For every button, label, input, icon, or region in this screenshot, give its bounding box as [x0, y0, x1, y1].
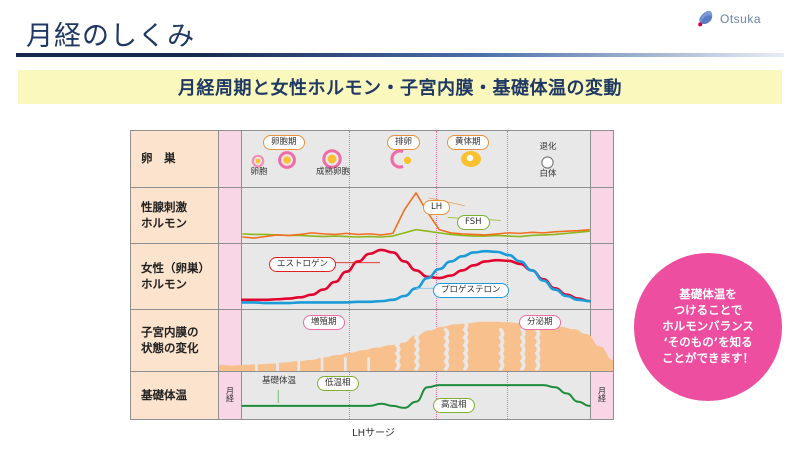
pill-low-temp-phase: 低温相: [317, 376, 359, 391]
guide-line-ovulation: [436, 131, 438, 187]
pill-ovulation: 排卵: [387, 135, 420, 150]
guide-line-luteal: [507, 131, 509, 187]
endometrium-plot: 増殖期 分泌期: [219, 310, 613, 371]
bubble-line: ことができます！: [662, 351, 754, 367]
corpus-luteum-icon: [459, 149, 483, 174]
bubble-line: ホルモンバランス: [662, 319, 754, 335]
label-corpus-albicans: 白体: [531, 170, 565, 180]
chart-row-female-hormone: 女性（卵巣）ホルモン エストロゲン プロゲステロン: [131, 244, 613, 310]
female-hormone-curves: [219, 244, 613, 309]
lh-surge-caption: LHサージ: [352, 424, 395, 439]
chart-row-gonadotropin: 性腺刺激ホルモン LH FSH: [131, 188, 613, 244]
chart-row-endometrium: 子宮内膜の状態の変化 増殖期 分泌期: [131, 310, 613, 372]
bbt-plot: 月経 月経 基礎体温 低温相 高温相: [219, 372, 613, 419]
menstruation-band-right: [590, 131, 613, 187]
bbt-benefit-callout-bubble: 基礎体温をつけることでホルモンバランス‘そのもの’を知ることができます！: [634, 253, 782, 401]
pill-proliferative-phase: 増殖期: [303, 315, 345, 330]
otsuka-leaf-logo-icon: [694, 8, 716, 30]
label-lh: LH: [423, 200, 450, 215]
row-label-gonadotropin-line1: 性腺刺激ホルモン: [141, 200, 187, 231]
row-label-gonadotropin: 性腺刺激ホルモン: [131, 188, 219, 243]
otsuka-logo-text: Otsuka: [720, 12, 761, 26]
pill-follicular-phase: 卵胞期: [263, 135, 305, 150]
row-label-bbt: 基礎体温: [131, 372, 219, 419]
label-progesterone: プロゲステロン: [433, 283, 509, 298]
gonadotropin-plot: LH FSH: [219, 188, 613, 243]
label-degeneration: 退化: [531, 143, 565, 153]
title-underline-rule: [16, 53, 784, 57]
female-hormone-plot: エストロゲン プロゲステロン: [219, 244, 613, 309]
chart-row-bbt: 基礎体温 月経 月経 基礎体温 低温相 高温相: [131, 372, 613, 419]
gonadotropin-curves: [219, 188, 613, 243]
label-fsh: FSH: [457, 215, 490, 230]
ovary-plot: 卵胞期 排卵 黄体期 卵胞: [219, 131, 613, 187]
bubble-line: 基礎体温を: [662, 287, 754, 303]
chart-row-ovary: 卵 巣 卵胞期 排卵 黄体期 卵胞: [131, 131, 613, 188]
pill-high-temp-phase: 高温相: [433, 398, 475, 413]
follicle-icon-growing: [277, 150, 297, 175]
bubble-line: つけることで: [662, 303, 754, 319]
pill-secretory-phase: 分泌期: [519, 315, 561, 330]
ovulation-icon: [389, 148, 415, 175]
row-label-ovary: 卵 巣: [131, 131, 219, 187]
row-label-endometrium: 子宮内膜の状態の変化: [131, 310, 219, 371]
row-label-female-hormone: 女性（卵巣）ホルモン: [131, 244, 219, 309]
pill-luteal-phase: 黄体期: [447, 135, 489, 150]
label-estrogen: エストロゲン: [269, 257, 336, 272]
guide-line-follicular: [349, 131, 351, 187]
label-follicle: 卵胞: [243, 168, 275, 178]
bubble-text: 基礎体温をつけることでホルモンバランス‘そのもの’を知ることができます！: [662, 287, 754, 366]
menstrual-cycle-chart: 卵 巣 卵胞期 排卵 黄体期 卵胞: [130, 130, 614, 420]
subtitle-banner: 月経周期と女性ホルモン・子宮内膜・基礎体温の変動: [18, 70, 782, 104]
otsuka-logo: Otsuka: [694, 8, 786, 34]
subtitle-text: 月経周期と女性ホルモン・子宮内膜・基礎体温の変動: [178, 74, 622, 100]
menstruation-band-left: [219, 131, 242, 187]
page-title: 月経のしくみ: [26, 14, 195, 53]
label-bbt: 基礎体温: [251, 377, 307, 387]
bubble-line: ‘そのもの’を知る: [662, 335, 754, 351]
label-mature-follicle: 成熟卵胞: [309, 168, 357, 178]
